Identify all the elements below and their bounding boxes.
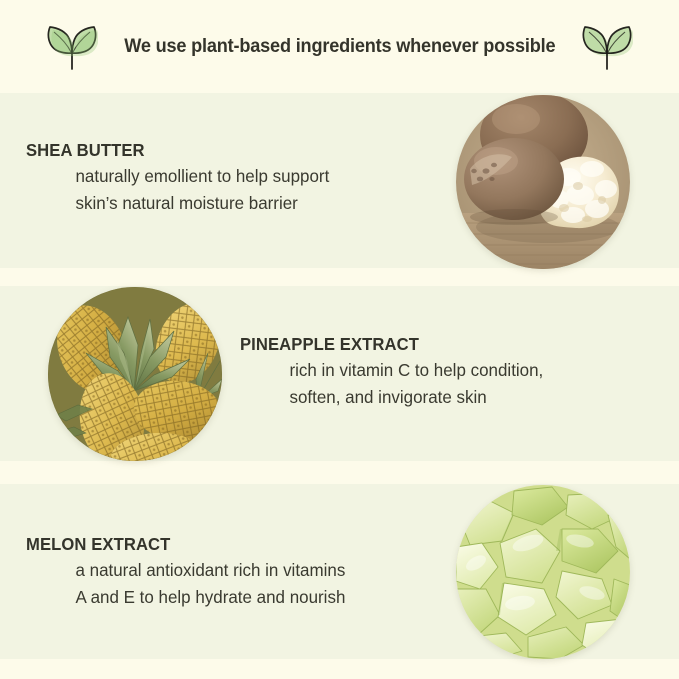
ingredient-photo-shea-butter xyxy=(456,95,630,269)
infographic-page: We use plant-based ingredients whenever … xyxy=(0,0,679,679)
ingredient-text-shea-butter: SHEA BUTTER naturally emollient to help … xyxy=(26,140,339,216)
header-banner: We use plant-based ingredients whenever … xyxy=(0,0,679,93)
ingredient-description: rich in vitamin C to help condition, sof… xyxy=(240,357,543,410)
description-line: naturally emollient to help support xyxy=(75,163,329,190)
ingredient-name: MELON EXTRACT xyxy=(26,534,339,554)
leaf-sprout-icon xyxy=(46,23,98,71)
ingredient-name: SHEA BUTTER xyxy=(26,140,323,160)
description-line: skin’s natural moisture barrier xyxy=(75,190,329,217)
ingredient-text-melon-extract: MELON EXTRACT a natural antioxidant rich… xyxy=(26,534,355,610)
ingredient-photo-melon-extract xyxy=(456,485,630,659)
ingredient-text-pineapple-extract: PINEAPPLE EXTRACT rich in vitamin C to h… xyxy=(240,334,553,410)
ingredient-description: naturally emollient to help support skin… xyxy=(26,163,329,216)
description-line: rich in vitamin C to help condition, xyxy=(289,357,543,384)
description-line: a natural antioxidant rich in vitamins xyxy=(75,557,345,584)
ingredient-description: a natural antioxidant rich in vitamins A… xyxy=(26,557,345,610)
description-line: soften, and invigorate skin xyxy=(289,384,543,411)
melon-photo xyxy=(456,485,630,659)
page-title: We use plant-based ingredients whenever … xyxy=(124,35,555,58)
leaf-sprout-icon xyxy=(581,23,633,71)
ingredient-photo-pineapple-extract xyxy=(48,287,222,461)
shea-butter-photo xyxy=(456,95,630,269)
pineapple-photo xyxy=(48,287,222,461)
ingredient-name: PINEAPPLE EXTRACT xyxy=(240,334,537,354)
description-line: A and E to help hydrate and nourish xyxy=(75,584,345,611)
